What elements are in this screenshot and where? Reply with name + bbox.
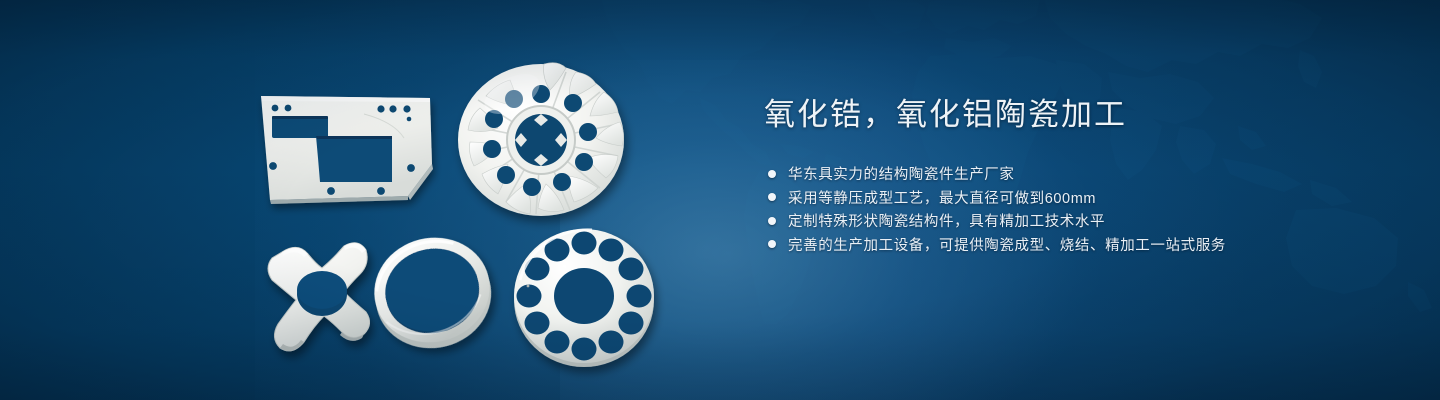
feature-text: 采用等静压成型工艺，最大直径可做到600mm	[788, 187, 1096, 208]
banner-copy: 氧化锆，氧化铝陶瓷加工 华东具实力的结构陶瓷件生产厂家 采用等静压成型工艺，最大…	[764, 96, 1384, 256]
ceramic-ring-image	[352, 222, 512, 358]
list-item: 完善的生产加工设备，可提供陶瓷成型、烧结、精加工一站式服务	[768, 233, 1384, 256]
banner-headline: 氧化锆，氧化铝陶瓷加工	[764, 96, 1384, 133]
hero-banner: 氧化锆，氧化铝陶瓷加工 华东具实力的结构陶瓷件生产厂家 采用等静压成型工艺，最大…	[0, 0, 1440, 400]
feature-list: 华东具实力的结构陶瓷件生产厂家 采用等静压成型工艺，最大直径可做到600mm 定…	[768, 162, 1384, 256]
ceramic-disc-image	[508, 222, 660, 370]
ceramic-impeller-image	[448, 48, 634, 224]
list-item: 定制特殊形状陶瓷结构件，具有精加工技术水平	[768, 209, 1384, 232]
list-item: 采用等静压成型工艺，最大直径可做到600mm	[768, 186, 1384, 209]
bullet-dot-icon	[768, 240, 776, 248]
bullet-dot-icon	[768, 170, 776, 178]
ceramic-plate-image	[252, 78, 444, 210]
feature-text: 定制特殊形状陶瓷结构件，具有精加工技术水平	[788, 210, 1105, 231]
bullet-dot-icon	[768, 217, 776, 225]
feature-text: 完善的生产加工设备，可提供陶瓷成型、烧结、精加工一站式服务	[788, 234, 1226, 255]
product-cluster	[0, 0, 740, 400]
list-item: 华东具实力的结构陶瓷件生产厂家	[768, 162, 1384, 185]
bullet-dot-icon	[768, 193, 776, 201]
feature-text: 华东具实力的结构陶瓷件生产厂家	[788, 163, 1015, 184]
